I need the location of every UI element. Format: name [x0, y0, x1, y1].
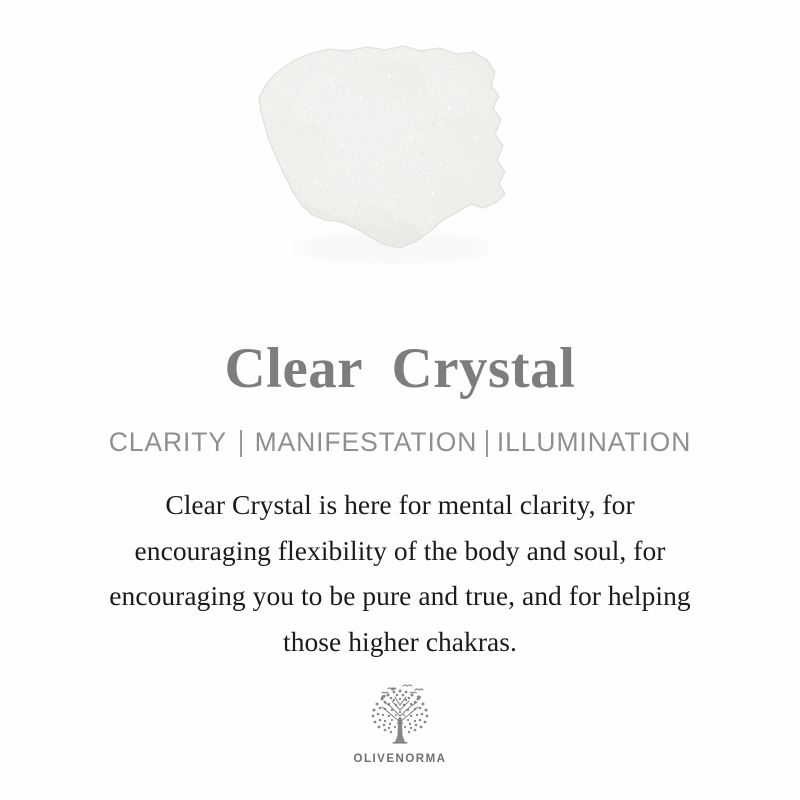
keyword-list: CLARITY MANIFESTATION ILLUMINATION: [109, 429, 691, 456]
crystal-info-card: Clear Crystal CLARITY MANIFESTATION ILLU…: [0, 0, 800, 800]
olive-tree-icon: [358, 682, 442, 752]
description-line: encouraging flexibility of the body and …: [45, 528, 755, 574]
hero-section: [0, 0, 800, 310]
description-line: those higher chakras.: [45, 619, 755, 665]
page-title: Clear Crystal: [224, 340, 575, 397]
keyword-separator-2: [486, 430, 488, 457]
description-text: Clear Crystal is here for mental clarity…: [45, 482, 755, 664]
keyword-separator-1: [240, 430, 242, 457]
keyword-manifestation: MANIFESTATION: [255, 429, 478, 456]
description-line: encouraging you to be pure and true, and…: [45, 573, 755, 619]
clear-crystal-photo: [243, 42, 525, 288]
keyword-clarity: CLARITY: [109, 429, 227, 456]
keyword-illumination: ILLUMINATION: [497, 429, 691, 456]
brand-logo: OLIVENORMA: [354, 682, 447, 766]
description-line: Clear Crystal is here for mental clarity…: [45, 482, 755, 528]
brand-name: OLIVENORMA: [354, 754, 447, 766]
